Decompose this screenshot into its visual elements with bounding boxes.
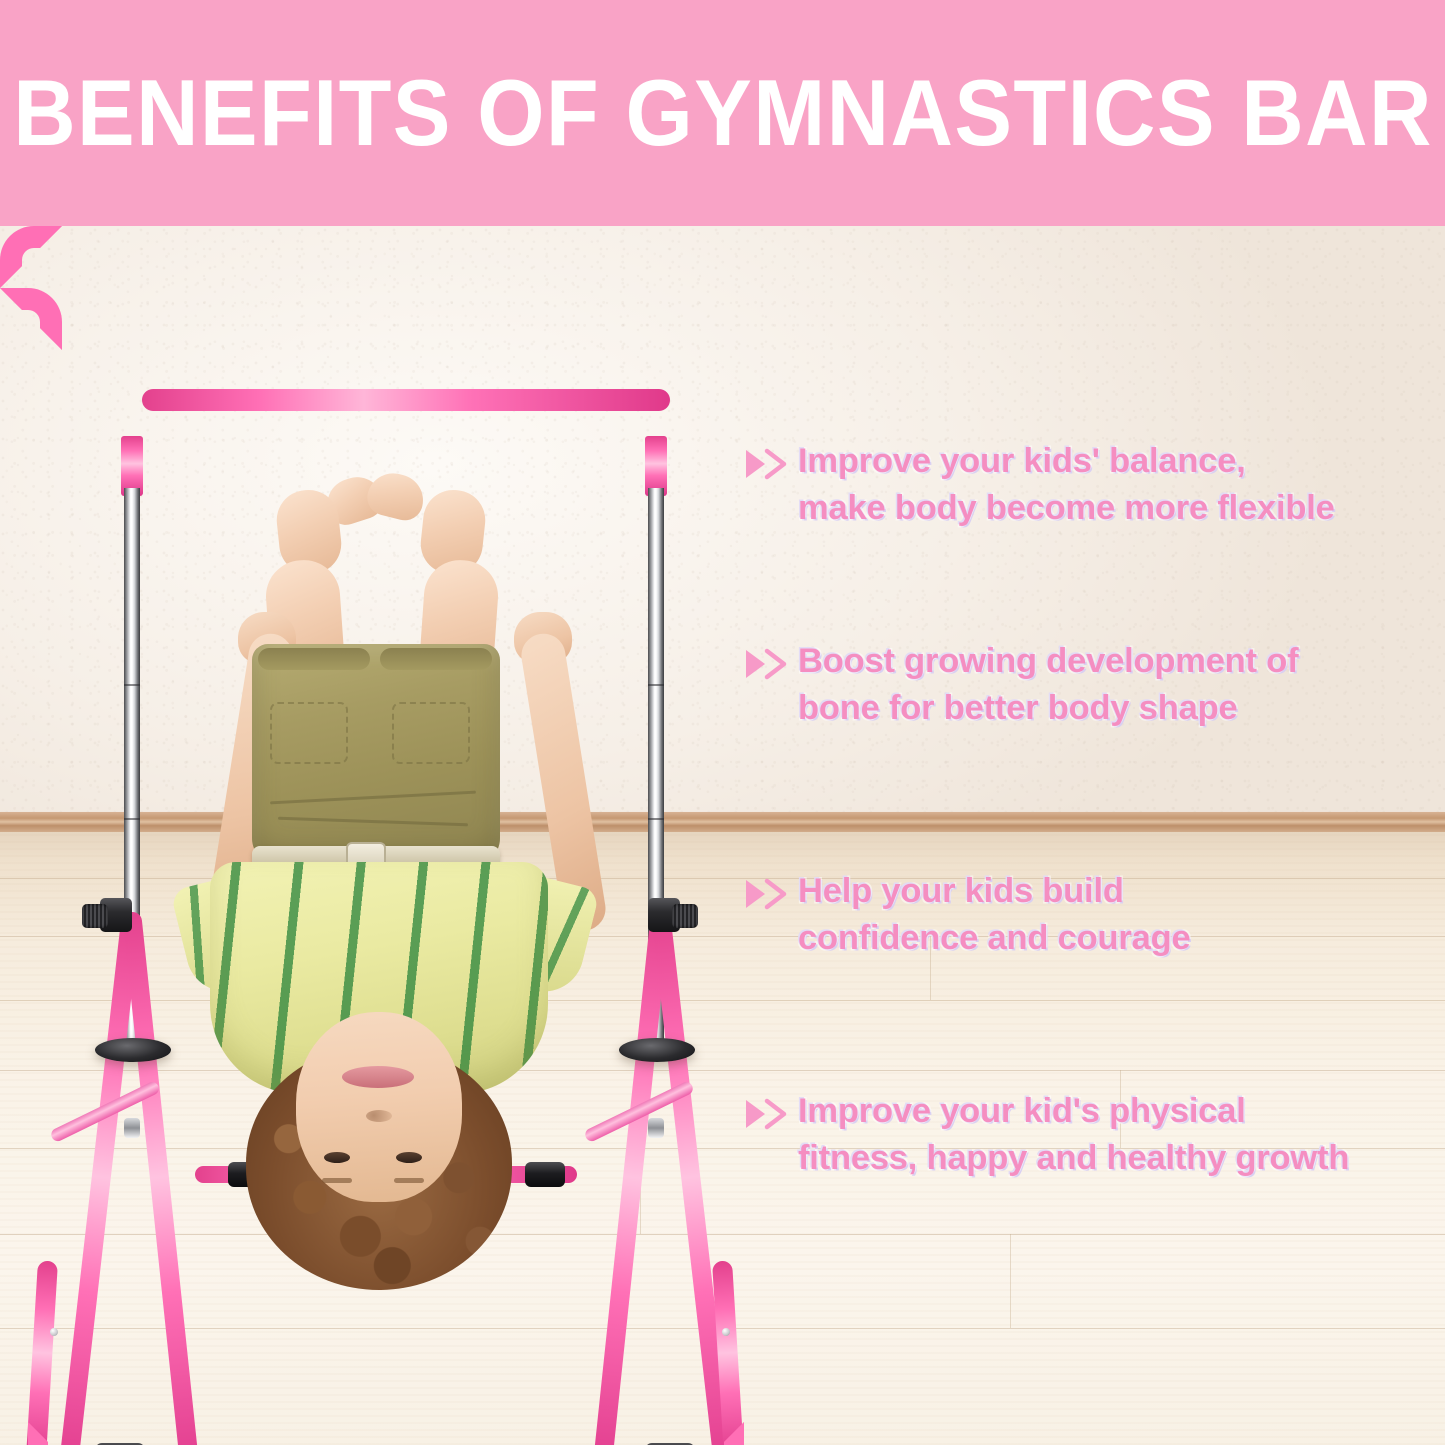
product-benefits-infographic: BENEFITS OF GYMNASTICS BAR — [0, 0, 1445, 1445]
child-figure — [200, 526, 620, 1226]
double-chevron-icon — [744, 1097, 788, 1131]
benefit-text-1: Improve your kids' balance,make body bec… — [798, 438, 1335, 532]
brace-pivot-left — [124, 1118, 140, 1138]
benefit-item-1: Improve your kids' balance,make body bec… — [744, 438, 1445, 532]
adjustment-knob-right[interactable] — [634, 898, 698, 932]
gymnastics-bar-product — [0, 226, 780, 1445]
head — [296, 1012, 462, 1202]
brace-pivot-right — [648, 1118, 664, 1138]
base-corner-right — [688, 1422, 744, 1445]
header-banner: BENEFITS OF GYMNASTICS BAR — [0, 0, 1445, 226]
frame-leg-back-left — [122, 911, 202, 1445]
mouth — [342, 1066, 414, 1088]
benefit-text-3: Help your kids buildconfidence and coura… — [798, 868, 1190, 962]
double-chevron-icon — [744, 877, 788, 911]
olive-shorts — [252, 644, 500, 866]
frame-leg-front-left — [56, 911, 141, 1445]
bar-arm-right — [645, 436, 667, 496]
benefits-list: Improve your kids' balance,make body bec… — [744, 226, 1445, 1445]
double-chevron-icon — [744, 647, 788, 681]
eyebrow-right — [394, 1178, 424, 1183]
adjustment-knob-left[interactable] — [82, 898, 146, 932]
double-chevron-icon — [744, 447, 788, 481]
bar-corner-left — [0, 226, 62, 288]
bar-corner-right — [0, 288, 62, 350]
eyebrow-left — [322, 1178, 352, 1183]
horizontal-bar — [142, 389, 670, 411]
benefit-item-2: Boost growing development ofbone for bet… — [744, 638, 1445, 732]
benefit-item-4: Improve your kid's physicalfitness, happ… — [744, 1088, 1445, 1182]
benefit-text-2: Boost growing development ofbone for bet… — [798, 638, 1298, 732]
pole-foot-left — [95, 1038, 171, 1062]
nose — [366, 1110, 392, 1122]
base-corner-left — [28, 1422, 84, 1445]
frame-rivet-right — [722, 1328, 730, 1336]
pole-foot-right — [619, 1038, 695, 1062]
base-side-left — [26, 1260, 58, 1445]
eye-right — [396, 1152, 422, 1163]
page-title: BENEFITS OF GYMNASTICS BAR — [13, 66, 1433, 160]
benefit-item-3: Help your kids buildconfidence and coura… — [744, 868, 1445, 962]
frame-rivet-left — [50, 1328, 58, 1336]
benefit-text-4: Improve your kid's physicalfitness, happ… — [798, 1088, 1349, 1182]
eye-left — [324, 1152, 350, 1163]
bar-arm-left — [121, 436, 143, 496]
